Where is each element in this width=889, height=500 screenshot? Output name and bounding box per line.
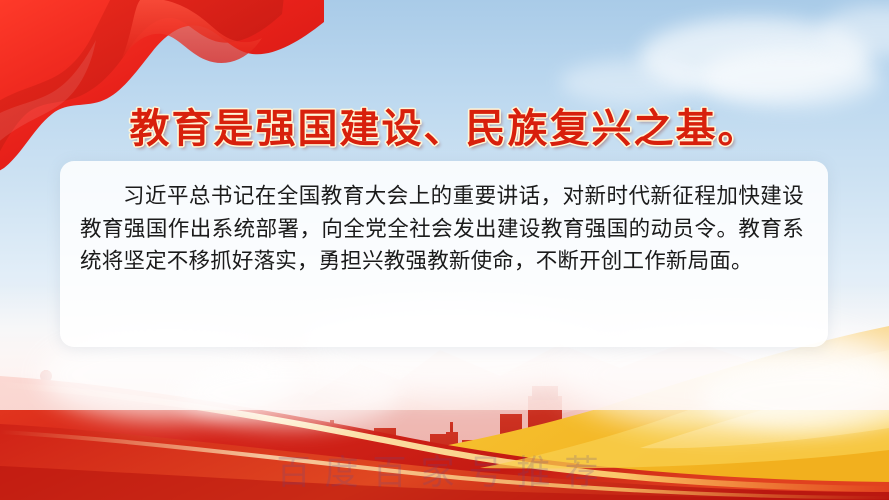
page-title: 教育是强国建设、民族复兴之基。 (0, 96, 889, 154)
poster-canvas: 百度百家号推荐 教育是强国建设、民族复兴之基。 习近平总书记在全国教育大会上的重… (0, 0, 889, 500)
cloud-decoration (640, 18, 870, 96)
content-card: 习近平总书记在全国教育大会上的重要讲话，对新时代新征程加快建设教育强国作出系统部… (60, 161, 828, 347)
watermark-text: 百度百家号推荐 (0, 445, 889, 494)
body-paragraph: 习近平总书记在全国教育大会上的重要讲话，对新时代新征程加快建设教育强国作出系统部… (80, 181, 804, 279)
cloud-decoration (820, 6, 889, 56)
